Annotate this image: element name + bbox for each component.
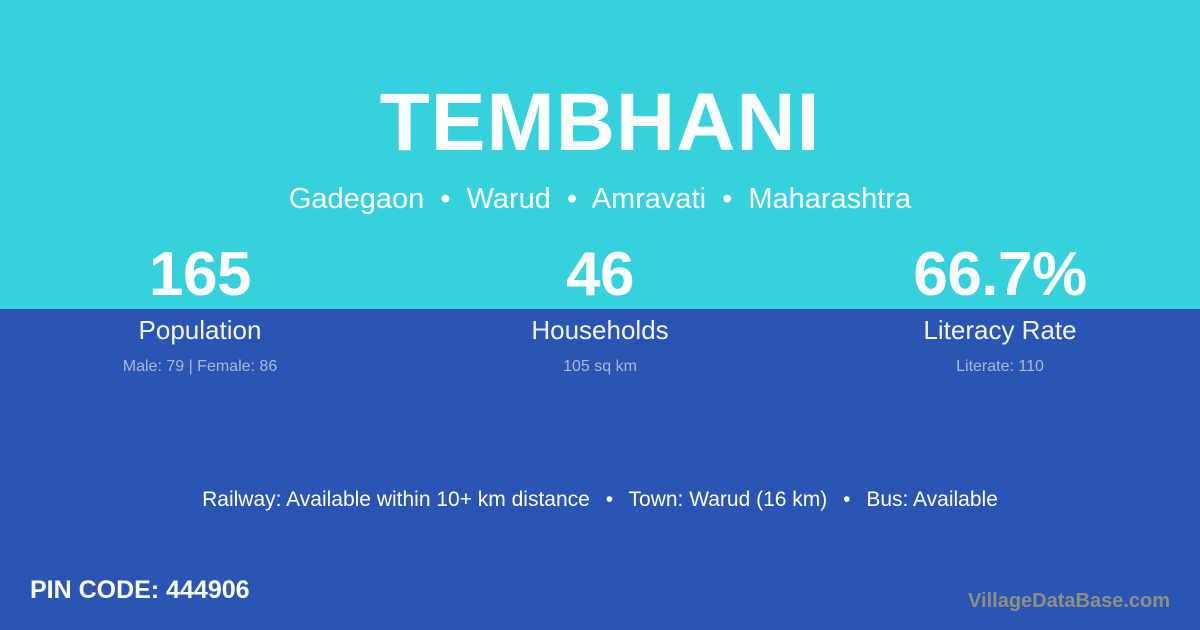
stat-households-label: Households [400, 315, 800, 346]
stat-literacy-rate-sub: Literate: 110 [800, 357, 1200, 376]
breadcrumb: Gadegaon • Warud • Amravati • Maharashtr… [0, 182, 1200, 217]
stat-population: 165 Population Male: 79 | Female: 86 [0, 243, 400, 377]
stat-literacy-rate-label: Literacy Rate [800, 315, 1200, 346]
site-branding: VillageDataBase.com [968, 589, 1170, 613]
transport-info: Railway: Available within 10+ km distanc… [0, 486, 1200, 513]
transport-separator-icon: • [833, 488, 860, 511]
stat-population-sub: Male: 79 | Female: 86 [0, 357, 400, 376]
stat-households: 46 Households 105 sq km [400, 243, 800, 377]
transport-separator-icon: • [596, 488, 623, 511]
breadcrumb-item-state: Maharashtra [748, 183, 911, 215]
stat-population-value: 165 [0, 243, 400, 306]
breadcrumb-item-district: Amravati [592, 183, 706, 215]
pin-code: PIN CODE: 444906 [30, 575, 250, 605]
breadcrumb-separator-icon: • [559, 183, 585, 215]
stat-households-value: 46 [400, 243, 800, 306]
breadcrumb-item-taluka: Warud [467, 183, 551, 215]
breadcrumb-item-village: Gadegaon [289, 183, 424, 215]
transport-town: Town: Warud (16 km) [629, 488, 828, 511]
transport-railway: Railway: Available within 10+ km distanc… [202, 488, 590, 511]
stat-literacy-rate: 66.7% Literacy Rate Literate: 110 [800, 243, 1200, 377]
breadcrumb-separator-icon: • [432, 183, 458, 215]
stat-literacy-rate-value: 66.7% [800, 243, 1200, 306]
stat-population-label: Population [0, 315, 400, 346]
stat-households-sub: 105 sq km [400, 357, 800, 376]
transport-bus: Bus: Available [866, 488, 998, 511]
stats-row: 165 Population Male: 79 | Female: 86 46 … [0, 243, 1200, 377]
breadcrumb-separator-icon: • [714, 183, 740, 215]
page-title: TEMBHANI [0, 82, 1200, 164]
